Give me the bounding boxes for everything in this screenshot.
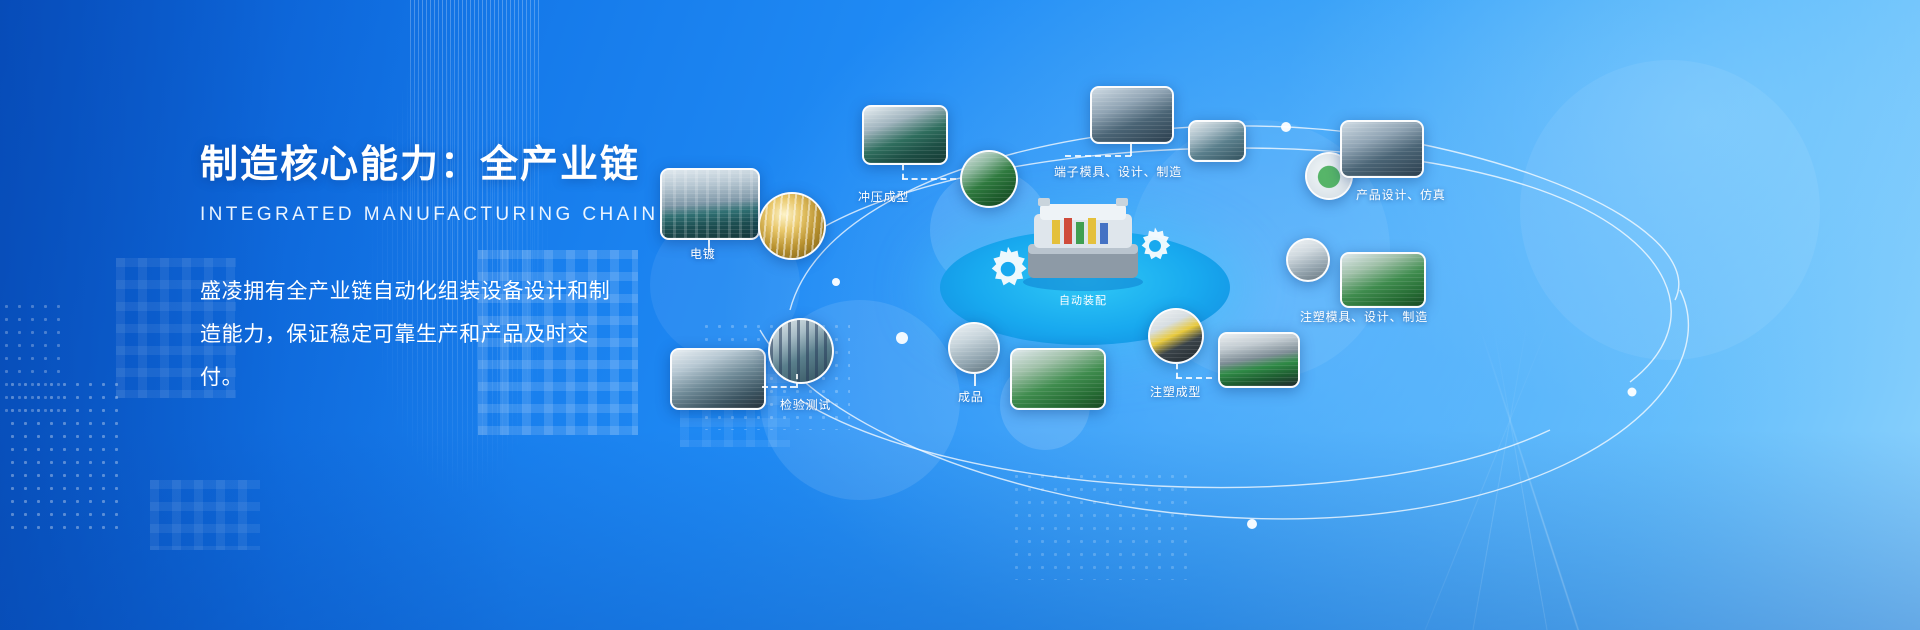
test-fixture-photo — [768, 318, 834, 384]
connector-injmold-v — [1340, 282, 1342, 296]
production-belt-photo — [1218, 332, 1300, 388]
assembly-line-photo — [660, 168, 760, 240]
injection-mold-photo — [1340, 252, 1426, 308]
node-label-injection-mold: 注塑模具、设计、制造 — [1300, 308, 1428, 325]
automatic-assembly-machine — [1008, 196, 1158, 292]
page-description: 盛凌拥有全产业链自动化组装设备设计和制造能力，保证稳定可靠生产和产品及时交付。 — [200, 270, 620, 399]
center-label: 自动装配 — [1008, 292, 1158, 308]
connector-injform-v — [1176, 364, 1178, 378]
connector-inspection-h — [762, 386, 796, 388]
hero-copy: 制造核心能力：全产业链 INTEGRATED MANUFACTURING CHA… — [200, 142, 670, 399]
node-label-stamping: 冲压成型 — [858, 188, 909, 205]
stamping-machine-photo — [862, 105, 948, 165]
node-label-inspection: 检验测试 — [780, 396, 831, 413]
connector-product-photo — [948, 322, 1000, 374]
orbit-paths — [640, 0, 1920, 630]
inspection-lab-photo — [670, 348, 766, 410]
connector-finished-v — [974, 374, 976, 386]
node-label-finished-product: 成品 — [958, 388, 984, 405]
connector-injform-h — [1176, 377, 1212, 379]
gold-terminal-reel — [758, 192, 826, 260]
injection-machine-photo — [1148, 308, 1204, 364]
node-label-product-design: 产品设计、仿真 — [1356, 186, 1446, 203]
manufacturing-chain-diagram: 自动装配 电镀 冲压成型 — [640, 0, 1920, 630]
mold-workshop-photo — [1090, 86, 1174, 144]
page-subtitle: INTEGRATED MANUFACTURING CHAIN — [200, 204, 670, 226]
tray-part-photo — [1188, 120, 1246, 162]
node-label-injection-forming: 注塑成型 — [1150, 383, 1201, 400]
square-grid-low-left — [150, 480, 260, 550]
node-label-electroplating: 电镀 — [690, 245, 716, 262]
green-line-photo — [1010, 348, 1106, 410]
dot-matrix-left-low — [0, 300, 70, 420]
connector-stamping-v — [902, 165, 904, 179]
mold-machine-photo — [1286, 238, 1330, 282]
connector-inspection-v — [796, 374, 798, 388]
page-title: 制造核心能力：全产业链 — [200, 142, 670, 190]
connector-terminal-h — [1065, 155, 1131, 157]
node-label-terminal-mold: 端子模具、设计、制造 — [1054, 163, 1182, 180]
hero-banner: 制造核心能力：全产业链 INTEGRATED MANUFACTURING CHA… — [0, 0, 1920, 630]
design-office-photo — [1340, 120, 1424, 178]
green-pcb-round — [960, 150, 1018, 208]
connector-stamping-h — [902, 178, 956, 180]
